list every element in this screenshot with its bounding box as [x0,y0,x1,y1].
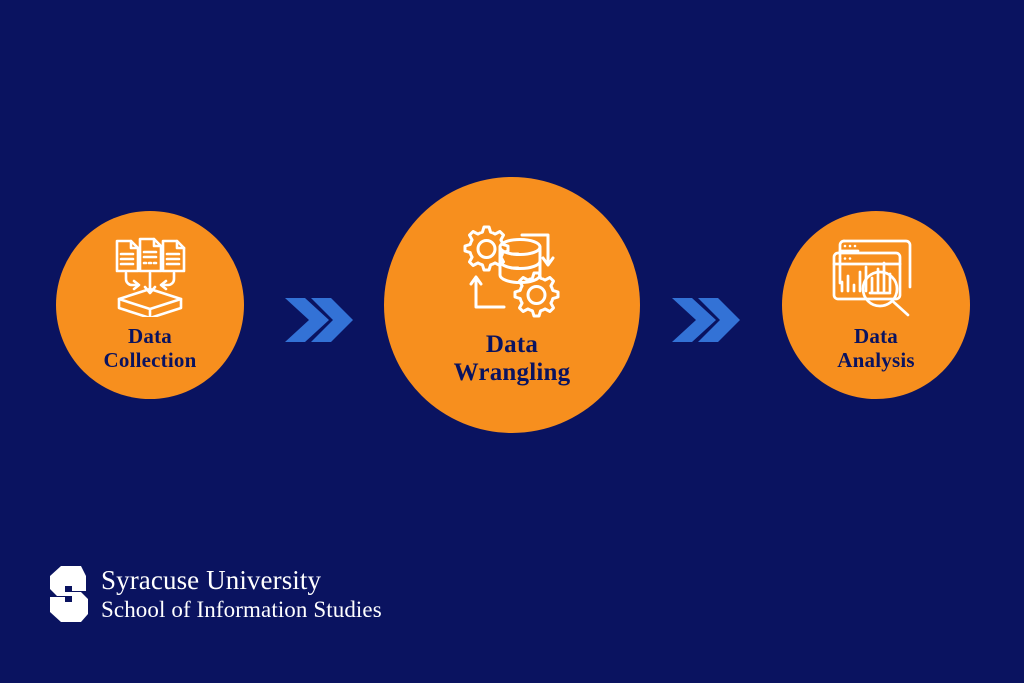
process-step-data-analysis[interactable]: Data Analysis [782,211,970,399]
label-line-2: Collection [104,349,197,373]
double-chevron-right-icon [283,292,353,348]
documents-into-tray-icon [107,237,193,317]
process-step-label: Data Analysis [837,325,914,372]
process-step-label: Data Collection [104,325,197,372]
double-chevron-right-icon [670,292,740,348]
label-line-2: Wrangling [454,359,571,387]
process-step-label: Data Wrangling [454,331,571,387]
gears-database-cycle-icon [460,223,564,319]
connector-2 [670,292,740,348]
brand-unit: School of Information Studies [101,597,382,623]
connector-1 [283,292,353,348]
process-flow: Data Collection [0,170,1024,445]
chart-windows-magnifier-icon [832,237,920,317]
label-line-1: Data [454,331,571,359]
process-step-data-collection[interactable]: Data Collection [56,211,244,399]
label-line-2: Analysis [837,349,914,373]
process-step-data-wrangling[interactable]: Data Wrangling [384,177,640,433]
label-line-1: Data [837,325,914,349]
brand-organization: Syracuse University [101,566,382,595]
brand-text: Syracuse University School of Informatio… [101,566,382,623]
label-line-1: Data [104,325,197,349]
brand-lockup: Syracuse University School of Informatio… [48,564,382,624]
syracuse-block-s-icon [48,564,88,624]
diagram-canvas: Data Collection [0,0,1024,683]
